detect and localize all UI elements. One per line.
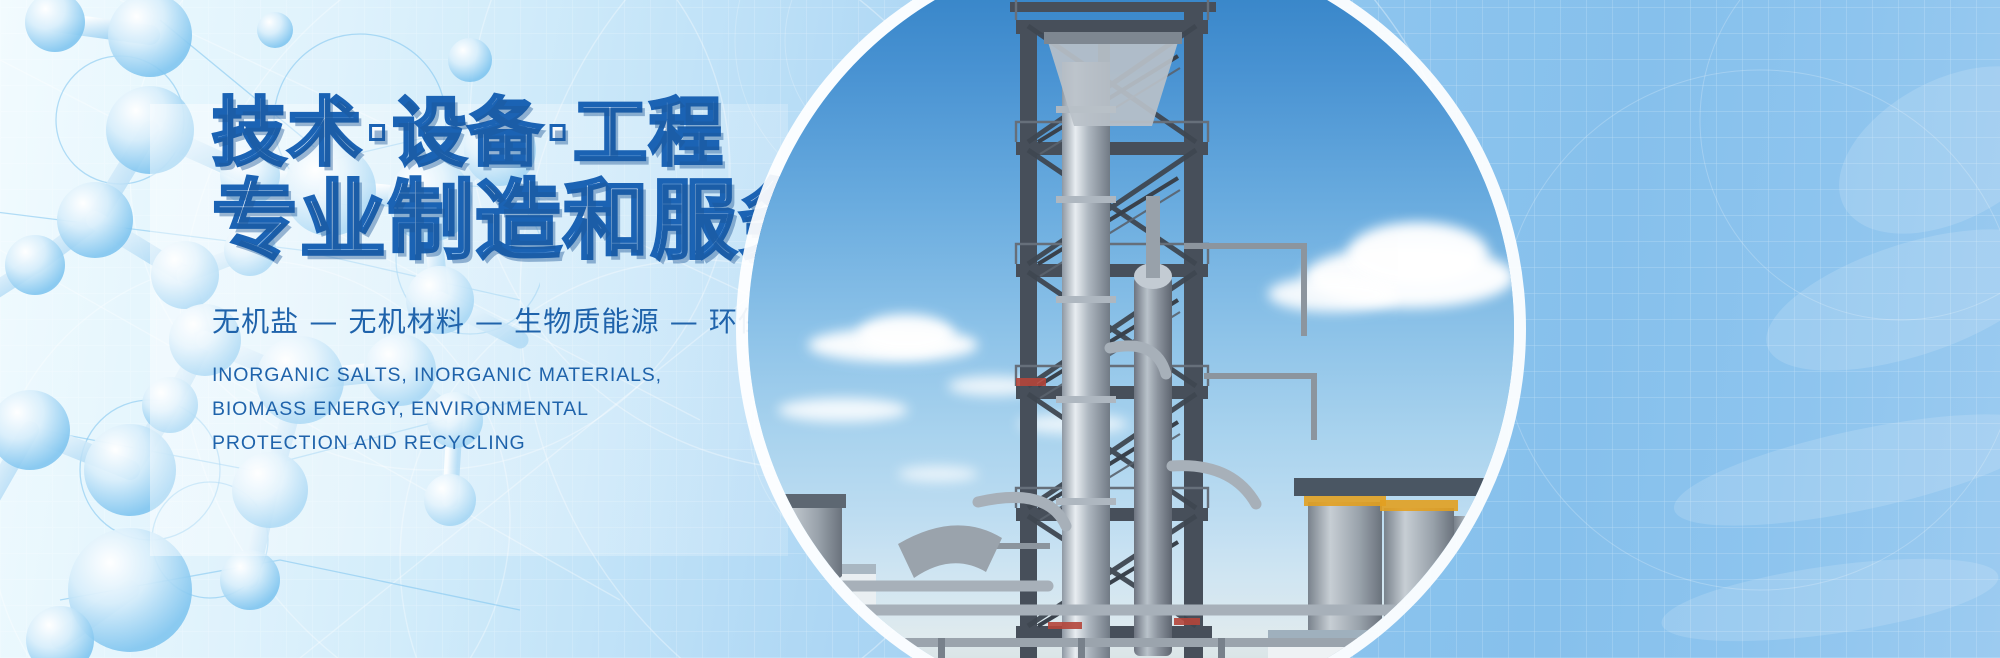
plant-structure-graphic bbox=[748, 0, 1514, 658]
subtitle-english-line-2: PROTECTION AND RECYCLING bbox=[212, 426, 742, 460]
light-streaks bbox=[1440, 0, 2000, 658]
circular-photo-frame bbox=[748, 0, 1514, 658]
subtitle-english: INORGANIC SALTS, INORGANIC MATERIALS, BI… bbox=[212, 358, 742, 460]
hero-banner: 技术·设备·工程 专业制造和服务商 无机盐 — 无机材料 — 生物质能源 — 环… bbox=[0, 0, 2000, 658]
industrial-chemical-plant-photo bbox=[748, 0, 1514, 658]
subtitle-english-line-1: INORGANIC SALTS, INORGANIC MATERIALS, BI… bbox=[212, 358, 742, 426]
